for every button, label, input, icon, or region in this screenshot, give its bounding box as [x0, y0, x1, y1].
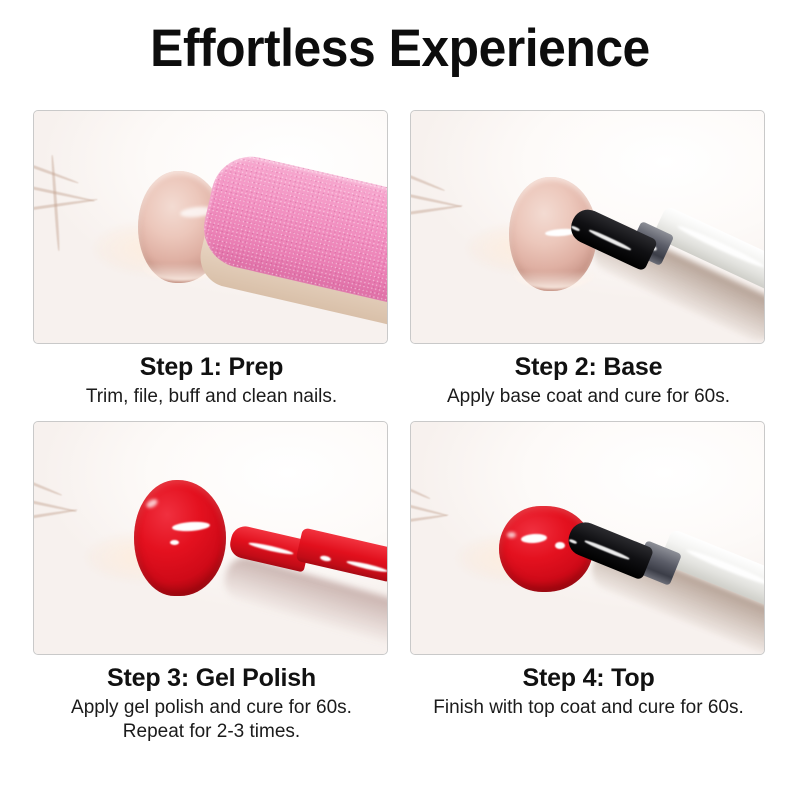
nail-gloss-dot — [555, 542, 565, 549]
step-card-2[interactable]: Step 2: Base Apply base coat and cure fo… — [410, 110, 767, 409]
steps-grid: Step 1: Prep Trim, file, buff and clean … — [33, 110, 767, 744]
step-1-caption: Step 1: Prep Trim, file, buff and clean … — [33, 344, 390, 409]
step-3-caption: Step 3: Gel Polish Apply gel polish and … — [33, 655, 390, 744]
step-card-3[interactable]: Step 3: Gel Polish Apply gel polish and … — [33, 421, 390, 744]
step-3-title: Step 3: Gel Polish — [33, 663, 390, 693]
page-title: Effortless Experience — [24, 18, 776, 80]
step-4-description: Finish with top coat and cure for 60s. — [410, 693, 767, 720]
step-4-title: Step 4: Top — [410, 663, 767, 693]
step-2-description: Apply base coat and cure for 60s. — [410, 382, 767, 409]
step-4-photo — [410, 421, 765, 655]
step-2-photo — [410, 110, 765, 344]
step-3-description: Apply gel polish and cure for 60s. Repea… — [33, 693, 390, 744]
step-1-title: Step 1: Prep — [33, 352, 390, 382]
nail-gloss-edge — [507, 532, 516, 538]
step-card-1[interactable]: Step 1: Prep Trim, file, buff and clean … — [33, 110, 390, 409]
nail-free-edge — [513, 259, 595, 289]
step-4-caption: Step 4: Top Finish with top coat and cur… — [410, 655, 767, 720]
step-1-description: Trim, file, buff and clean nails. — [33, 382, 390, 409]
infographic-page: Effortless Experience — [0, 0, 800, 800]
red-nail — [134, 480, 226, 596]
nail-gloss-dot — [170, 540, 179, 545]
step-1-photo — [33, 110, 388, 344]
step-2-caption: Step 2: Base Apply base coat and cure fo… — [410, 344, 767, 409]
step-3-photo — [33, 421, 388, 655]
step-2-title: Step 2: Base — [410, 352, 767, 382]
step-card-4[interactable]: Step 4: Top Finish with top coat and cur… — [410, 421, 767, 744]
